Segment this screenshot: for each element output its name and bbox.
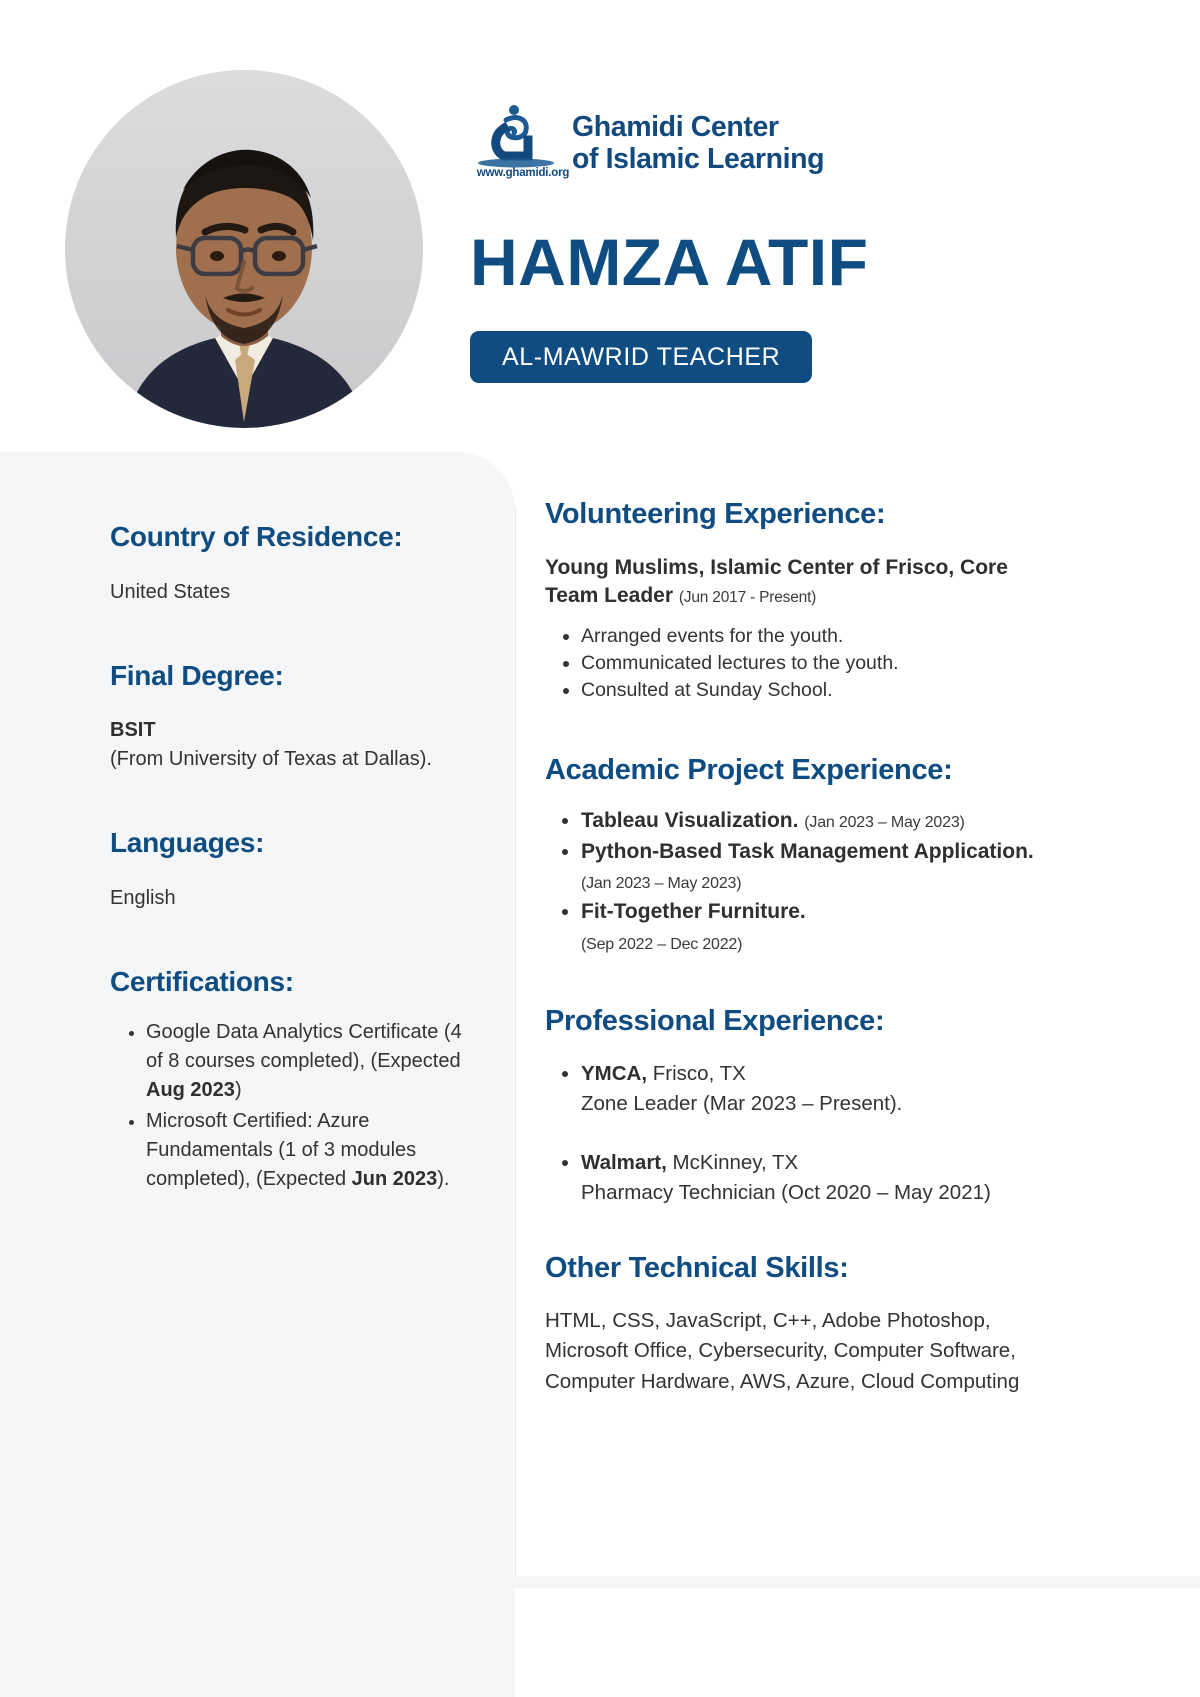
project-dates: (Jan 2023 – May 2023) bbox=[581, 875, 741, 892]
volunteering-org: Young Muslims, Islamic Center of Frisco,… bbox=[545, 554, 1050, 609]
residence-heading: Country of Residence: bbox=[110, 520, 470, 554]
list-item: Communicated lectures to the youth. bbox=[581, 650, 1050, 677]
project-dates: (Sep 2022 – Dec 2022) bbox=[581, 936, 742, 953]
languages-heading: Languages: bbox=[110, 826, 470, 860]
professional-heading: Professional Experience: bbox=[545, 1004, 1050, 1039]
employer-role: Pharmacy Technician (Oct 2020 – May 2021… bbox=[581, 1181, 991, 1204]
volunteering-bullets: Arranged events for the youth. Communica… bbox=[545, 623, 1050, 703]
skills-value: HTML, CSS, JavaScript, C++, Adobe Photos… bbox=[545, 1306, 1050, 1397]
employer-role: Zone Leader (Mar 2023 – Present). bbox=[581, 1092, 902, 1115]
skills-heading: Other Technical Skills: bbox=[545, 1251, 1050, 1286]
footer-area bbox=[515, 1600, 1200, 1697]
academic-heading: Academic Project Experience: bbox=[545, 753, 1050, 788]
degree-value: BSIT bbox=[110, 716, 470, 745]
brand-line-2: of Islamic Learning bbox=[572, 143, 824, 175]
degree-heading: Final Degree: bbox=[110, 659, 470, 693]
list-item: Arranged events for the youth. bbox=[581, 623, 1050, 650]
project-title: Fit-Together Furniture. bbox=[581, 900, 806, 923]
cert-date: Jun 2023 bbox=[352, 1168, 438, 1190]
professional-list: YMCA, Frisco, TX Zone Leader (Mar 2023 –… bbox=[545, 1059, 1050, 1207]
column-divider bbox=[515, 507, 516, 1587]
list-item: Fit-Together Furniture. (Sep 2022 – Dec … bbox=[581, 897, 1050, 958]
academic-list: Tableau Visualization. (Jan 2023 – May 2… bbox=[545, 806, 1050, 958]
resume-page: www.ghamidi.org Ghamidi Center of Islami… bbox=[0, 0, 1200, 1697]
footer-band bbox=[515, 1576, 1200, 1588]
languages-value: English bbox=[110, 884, 470, 913]
employer-location: Frisco, TX bbox=[647, 1062, 746, 1085]
employer-location: McKinney, TX bbox=[667, 1151, 798, 1174]
cert-text-before: Google Data Analytics Certificate (4 of … bbox=[146, 1021, 462, 1072]
list-item: YMCA, Frisco, TX Zone Leader (Mar 2023 –… bbox=[581, 1059, 1050, 1118]
employer-name: Walmart, bbox=[581, 1151, 667, 1174]
cert-text-after: ). bbox=[437, 1168, 449, 1190]
project-title: Python-Based Task Management Application… bbox=[581, 840, 1034, 863]
main-content: Volunteering Experience: Young Muslims, … bbox=[515, 452, 1200, 1697]
brand-name: Ghamidi Center of Islamic Learning bbox=[572, 111, 824, 176]
cert-date: Aug 2023 bbox=[146, 1079, 235, 1101]
left-sidebar: Country of Residence: United States Fina… bbox=[0, 452, 515, 1697]
brand-lockup: www.ghamidi.org Ghamidi Center of Islami… bbox=[476, 104, 824, 182]
list-item: Google Data Analytics Certificate (4 of … bbox=[146, 1018, 470, 1105]
list-item: Consulted at Sunday School. bbox=[581, 677, 1050, 704]
page-title: HAMZA ATIF bbox=[470, 229, 868, 295]
residence-value: United States bbox=[110, 578, 470, 607]
brand-url: www.ghamidi.org bbox=[476, 167, 570, 179]
portrait-photo-icon bbox=[65, 70, 423, 428]
project-title: Tableau Visualization. bbox=[581, 809, 798, 832]
page-header: www.ghamidi.org Ghamidi Center of Islami… bbox=[0, 0, 1200, 452]
brand-line-1: Ghamidi Center bbox=[572, 111, 824, 143]
list-item: Tableau Visualization. (Jan 2023 – May 2… bbox=[581, 806, 1050, 836]
degree-detail: (From University of Texas at Dallas). bbox=[110, 745, 470, 774]
certifications-heading: Certifications: bbox=[110, 965, 470, 999]
project-dates: (Jan 2023 – May 2023) bbox=[804, 814, 964, 831]
volunteering-org-dates: (Jun 2017 - Present) bbox=[679, 589, 816, 606]
avatar bbox=[65, 70, 423, 428]
employer-name: YMCA, bbox=[581, 1062, 647, 1085]
list-item: Walmart, McKinney, TX Pharmacy Technicia… bbox=[581, 1148, 1050, 1207]
volunteering-heading: Volunteering Experience: bbox=[545, 497, 1050, 532]
role-badge: AL-MAWRID TEACHER bbox=[470, 331, 812, 383]
cert-text-after: ) bbox=[235, 1079, 242, 1101]
ghamidi-logo-icon: www.ghamidi.org bbox=[476, 104, 558, 182]
certifications-list: Google Data Analytics Certificate (4 of … bbox=[110, 1018, 470, 1194]
list-item: Microsoft Certified: Azure Fundamentals … bbox=[146, 1107, 470, 1194]
list-item: Python-Based Task Management Application… bbox=[581, 837, 1050, 898]
